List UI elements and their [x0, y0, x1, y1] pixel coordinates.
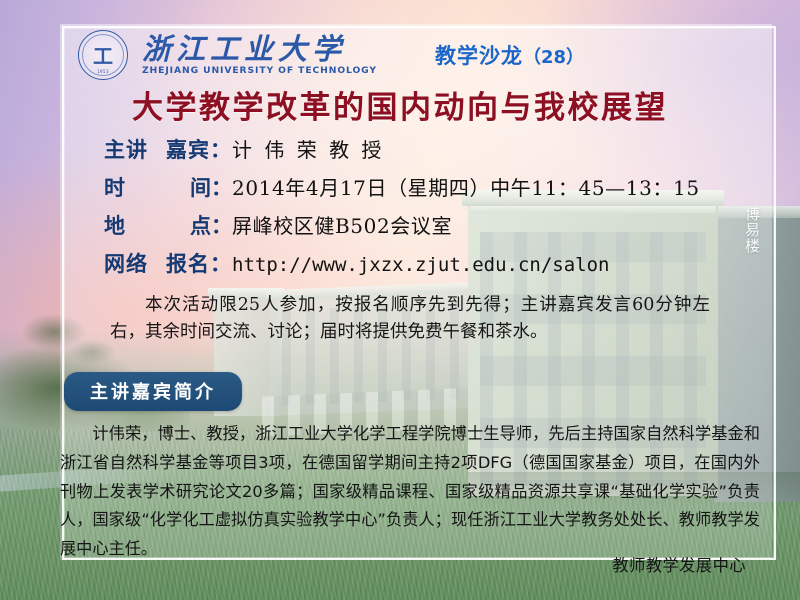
info-label-time-part-a: 时 [104, 172, 125, 202]
poster-canvas: 博易楼 工 1953 浙江工业大学 ZHEJIANG UNIVERSITY OF… [0, 0, 800, 600]
poster-header: 工 1953 浙江工业大学 ZHEJIANG UNIVERSITY OF TEC… [78, 30, 584, 80]
info-label-speaker-part-b: 嘉宾： [166, 134, 232, 164]
event-note-paragraph: 本次活动限25人参加，按报名顺序先到先得；主讲嘉宾发言60分钟左右，其余时间交流… [110, 292, 710, 346]
info-label-location-part-a: 地 [104, 210, 125, 240]
info-row-speaker: 主讲 嘉宾： 计 伟 荣 教 授 [104, 134, 700, 164]
page-title: 大学教学改革的国内动向与我校展望 [0, 82, 800, 127]
info-row-registration: 网络 报名： http://www.jxzx.zjut.edu.cn/salon [104, 248, 700, 278]
info-label-speaker-part-a: 主讲 [104, 134, 148, 164]
university-name-cn: 浙江工业大学 [142, 34, 377, 64]
info-label-registration: 网络 报名： [104, 248, 232, 278]
organizer-footer: 教师教学发展中心 [613, 552, 747, 576]
info-label-registration-part-b: 报名： [166, 248, 232, 278]
registration-url-link[interactable]: http://www.jxzx.zjut.edu.cn/salon [232, 254, 610, 276]
speaker-intro-badge: 主讲嘉宾简介 [64, 372, 242, 411]
university-seal-icon: 工 1953 [78, 30, 128, 80]
info-value-time: 2014年4月17日（星期四）中午11：45—13：15 [232, 172, 700, 201]
info-label-location: 地 点： [104, 210, 232, 240]
university-name-en: ZHEJIANG UNIVERSITY OF TECHNOLOGY [142, 65, 377, 76]
info-label-location-part-b: 点： [190, 210, 232, 240]
info-value-location: 屏峰校区健B502会议室 [232, 210, 452, 239]
info-label-speaker: 主讲 嘉宾： [104, 134, 232, 164]
info-label-registration-part-a: 网络 [104, 248, 148, 278]
salon-series-label: 教学沙龙 [435, 44, 523, 68]
info-row-location: 地 点： 屏峰校区健B502会议室 [104, 210, 700, 240]
speaker-bio-paragraph: 计伟荣，博士、教授，浙江工业大学化学工程学院博士生导师，先后主持国家自然科学基金… [60, 420, 760, 564]
poster-content: 工 1953 浙江工业大学 ZHEJIANG UNIVERSITY OF TEC… [0, 0, 800, 600]
seal-emblem-glyph: 工 [93, 46, 113, 66]
seal-year-text: 1953 [97, 69, 109, 74]
event-info-list: 主讲 嘉宾： 计 伟 荣 教 授 时 间： 2014年4月17日（星期四）中午1… [104, 134, 700, 278]
salon-series-number: （28） [523, 47, 584, 68]
salon-series-tag: 教学沙龙（28） [435, 40, 584, 70]
info-row-time: 时 间： 2014年4月17日（星期四）中午11：45—13：15 [104, 172, 700, 202]
info-label-time-part-b: 间： [190, 172, 232, 202]
info-value-speaker: 计 伟 荣 教 授 [232, 134, 384, 163]
info-label-time: 时 间： [104, 172, 232, 202]
university-wordmark: 浙江工业大学 ZHEJIANG UNIVERSITY OF TECHNOLOGY [142, 34, 377, 76]
